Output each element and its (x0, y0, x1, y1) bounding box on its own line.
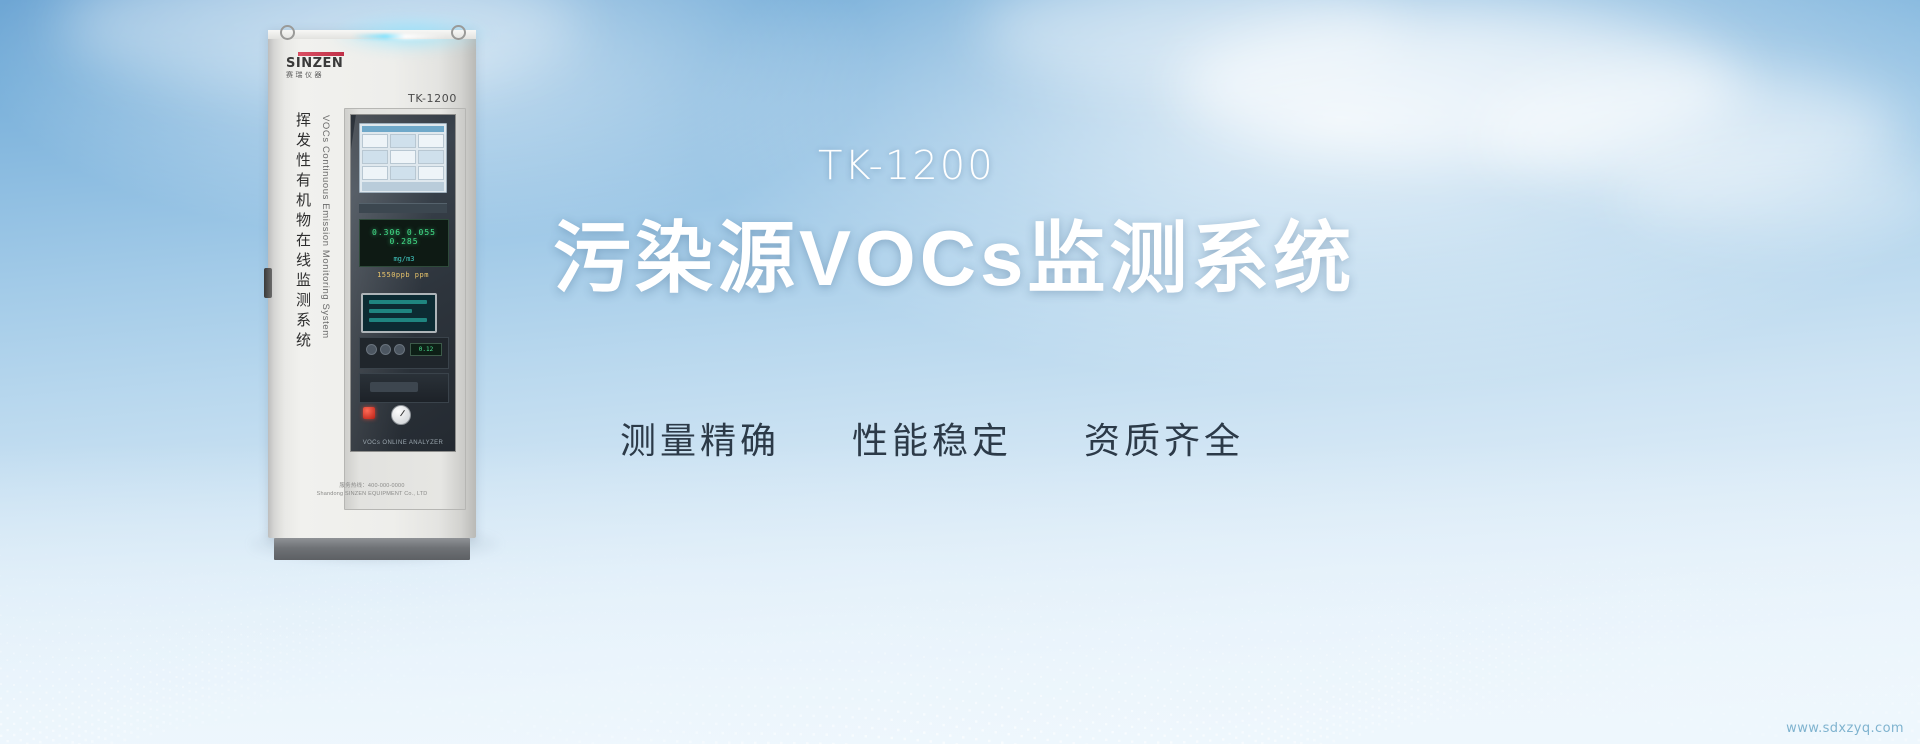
lcd-trace-line (369, 318, 427, 322)
hero-feature-list: 测量精确 性能稳定 资质齐全 (620, 412, 1244, 464)
emergency-stop-button[interactable] (363, 407, 375, 419)
cabinet-base (274, 538, 470, 560)
hero-feature-2: 性能稳定 (852, 412, 1012, 464)
cabinet-footer-text: 服务热线：400-000-0000 Shandong SINZEN EQUIPM… (268, 482, 476, 498)
analyzer-lcd-screen (361, 293, 437, 333)
hmi-tile (390, 150, 416, 164)
brand-name: SINZEN (286, 57, 360, 70)
control-knob[interactable] (366, 344, 377, 355)
product-cabinet: SINZEN 赛瑞仪器 TK-1200 挥发性有机物在线监测系统 VOCs Co… (268, 30, 476, 545)
hmi-tile (418, 150, 444, 164)
tube-inner (370, 382, 418, 392)
cabinet-footer-line2: Shandong SINZEN EQUIPMENT Co., LTD (268, 490, 476, 498)
hmi-tile (418, 134, 444, 148)
status-readout: 1550ppb ppm (359, 271, 447, 279)
lcd-trace-line (369, 309, 412, 313)
hmi-tile (362, 150, 388, 164)
hmi-tile (390, 166, 416, 180)
hero-title: 污染源VOCs监测系统 (553, 210, 1355, 306)
brand-subtitle: 赛瑞仪器 (286, 71, 360, 80)
hero-model-number: TK-1200 (818, 143, 995, 189)
hmi-title-bar (362, 126, 444, 132)
cabinet-vertical-english-text: VOCs Continuous Emission Monitoring Syst… (320, 115, 331, 345)
cabinet-vertical-chinese-text: 挥发性有机物在线监测系统 (290, 112, 312, 352)
cabinet-model-label: TK-1200 (408, 92, 457, 105)
hmi-tile (418, 166, 444, 180)
analyzer-caption: VOCs ONLINE ANALYZER (359, 440, 447, 446)
readout-primary-value: 0.306 0.055 0.285 (360, 228, 448, 246)
digital-readout-panel: 0.306 0.055 0.285 mg/m3 (359, 219, 449, 267)
mini-display-value: 0.12 (411, 344, 441, 355)
hero-feature-1: 测量精确 (620, 412, 780, 464)
hero-feature-3: 资质齐全 (1084, 412, 1244, 464)
hero-banner: SINZEN 赛瑞仪器 TK-1200 挥发性有机物在线监测系统 VOCs Co… (0, 0, 1920, 744)
site-watermark: www.sdxzyq.com (1786, 721, 1904, 736)
control-panel: 0.12 (359, 337, 449, 369)
lifting-ring-icon (280, 25, 295, 40)
control-knob[interactable] (394, 344, 405, 355)
module-label-strip (359, 203, 447, 213)
instrument-window: 0.306 0.055 0.285 mg/m3 1550ppb ppm 0.12 (350, 114, 456, 452)
brand-logo: SINZEN 赛瑞仪器 (286, 52, 360, 80)
lifting-ring-icon (451, 25, 466, 40)
door-handle (264, 268, 272, 298)
hmi-touchscreen[interactable] (359, 123, 447, 193)
readout-unit: mg/m3 (360, 255, 448, 263)
hmi-footer-bar (362, 182, 444, 191)
lcd-trace-line (369, 300, 427, 304)
cloud-wisp (1620, 150, 1920, 240)
sample-tube-module (359, 373, 449, 403)
mini-display: 0.12 (410, 343, 442, 356)
hmi-tile (390, 134, 416, 148)
cabinet-footer-line1: 服务热线：400-000-0000 (268, 482, 476, 490)
hmi-tile-grid (362, 134, 444, 180)
top-light-strip (352, 34, 448, 39)
pressure-gauge (391, 405, 411, 425)
control-knob[interactable] (380, 344, 391, 355)
hmi-tile (362, 166, 388, 180)
hmi-tile (362, 134, 388, 148)
